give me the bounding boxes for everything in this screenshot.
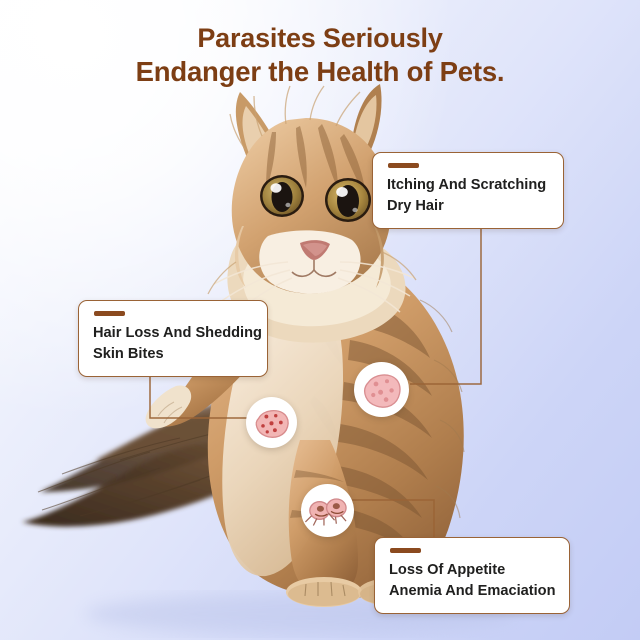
- callout-appetite-line-1: Loss Of Appetite: [389, 560, 555, 581]
- callout-itching-line-1: Itching And Scratching: [387, 175, 549, 196]
- callout-accent-dash: [388, 163, 419, 168]
- skin-rash-icon: [354, 362, 409, 417]
- callout-hairloss-line-2: Skin Bites: [93, 344, 253, 365]
- callout-accent-dash: [94, 311, 125, 316]
- title-line-2: Endanger the Health of Pets.: [0, 55, 640, 89]
- callout-appetite: Loss Of Appetite Anemia And Emaciation: [374, 537, 570, 614]
- callout-accent-dash: [390, 548, 421, 553]
- callout-appetite-line-2: Anemia And Emaciation: [389, 581, 555, 602]
- mites-icon: [301, 484, 354, 537]
- callout-itching: Itching And Scratching Dry Hair: [372, 152, 564, 229]
- callout-itching-line-2: Dry Hair: [387, 196, 549, 217]
- poster-canvas: Parasites Seriously Endanger the Health …: [0, 0, 640, 640]
- skin-bites-icon: [246, 397, 297, 448]
- title-line-1: Parasites Seriously: [0, 22, 640, 55]
- poster-title: Parasites Seriously Endanger the Health …: [0, 22, 640, 88]
- callout-hairloss-line-1: Hair Loss And Shedding: [93, 323, 253, 344]
- callout-hair-loss: Hair Loss And Shedding Skin Bites: [78, 300, 268, 377]
